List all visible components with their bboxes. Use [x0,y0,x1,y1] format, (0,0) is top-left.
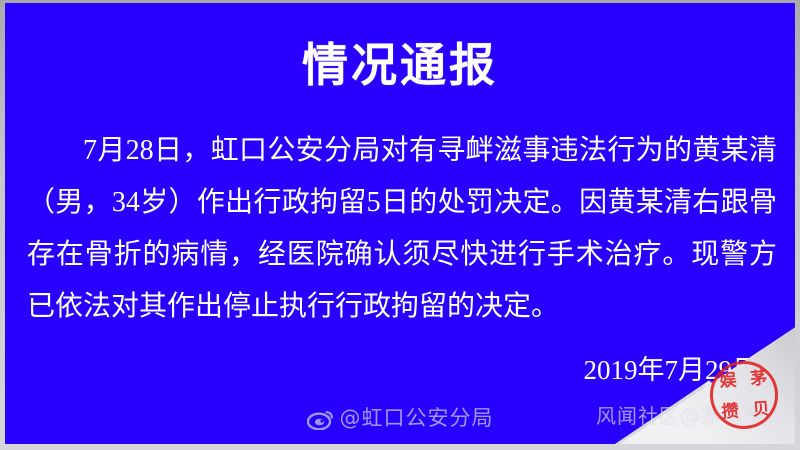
stamp-char-0: 娱 [711,371,743,391]
notice-card: 情况通报 7月28日，虹口公安分局对有寻衅滋事违法行为的黄某清（男，34岁）作出… [5,3,795,444]
stamp-char-2: 攒 [714,401,746,421]
notice-body: 7月28日，虹口公安分局对有寻衅滋事违法行为的黄某清（男，34岁）作出行政拘留5… [27,125,777,333]
weibo-handle-label: @虹口公安分局 [340,402,494,432]
stamp-char-1: 茅 [742,368,774,388]
notice-screenshot: 情况通报 7月28日，虹口公安分局对有寻衅滋事违法行为的黄某清（男，34岁）作出… [0,0,800,450]
page-title: 情况通报 [5,37,795,93]
notice-body-paragraph: 7月28日，虹口公安分局对有寻衅滋事违法行为的黄某清（男，34岁）作出行政拘留5… [27,125,777,333]
weibo-logo-icon [307,406,335,430]
stamp-char-3: 贝 [744,399,776,419]
